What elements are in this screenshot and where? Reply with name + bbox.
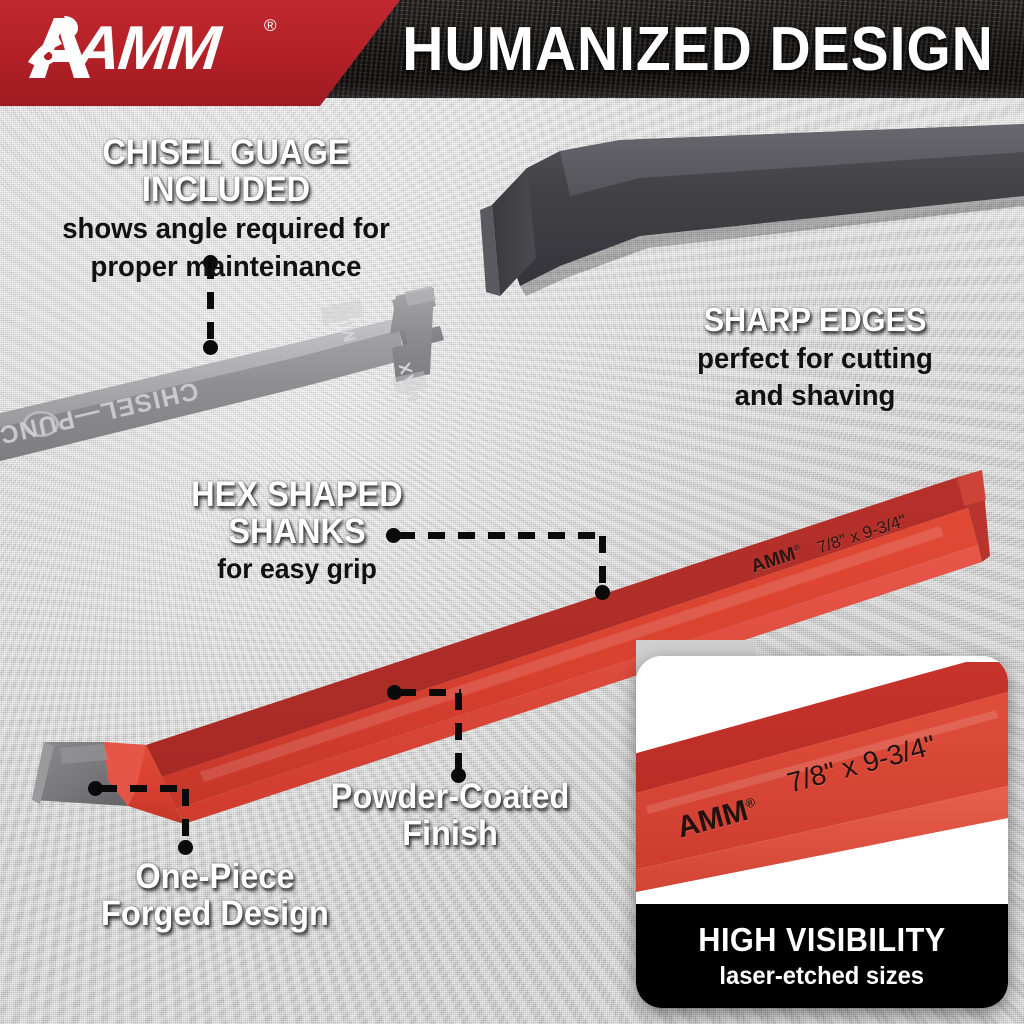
callout-sharp-edges-subtext-line-1: perfect for cutting [658, 344, 972, 375]
callout-one-piece-headline-line-1: One-Piece [80, 858, 350, 895]
callout-hex-shanks: HEX SHAPED SHANKS for easy grip [172, 476, 422, 584]
inset-caption-subtext: laser-etched sizes [720, 962, 925, 991]
callout-one-piece-headline-line-2: Forged Design [80, 895, 350, 932]
callout-powder-coated-headline-line-1: Powder-Coated [311, 778, 590, 815]
page-title: HUMANIZED DESIGN [422, 4, 974, 94]
callout-hex-shanks-headline-line-2: SHANKS [181, 513, 414, 550]
callout-chisel-gauge-subtext-line-1: shows angle required for [27, 214, 426, 245]
callout-powder-coated-headline-line-2: Finish [311, 815, 590, 852]
callout-sharp-edges-headline: SHARP EDGES [662, 303, 969, 338]
inset-panel-high-visibility[interactable]: AMM® 7/8" x 9-3/4" HIGH VISIBILITY laser… [636, 656, 1008, 1008]
callout-powder-coated: Powder-Coated Finish [300, 778, 600, 852]
callout-chisel-gauge-headline: CHISEL GUAGE INCLUDED [31, 134, 422, 208]
brand-name-text: AMM [73, 18, 222, 80]
inset-panel-caption: HIGH VISIBILITY laser-etched sizes [636, 904, 1008, 1008]
infographic-canvas: CHISEL—PUNCH GAUGE MIN MAX [0, 0, 1024, 1024]
callout-hex-shanks-headline-line-1: HEX SHAPED [181, 476, 414, 513]
callout-chisel-gauge-subtext-line-2: proper mainteinance [27, 252, 426, 283]
callout-hex-shanks-subtext: for easy grip [178, 554, 416, 584]
callout-one-piece: One-Piece Forged Design [70, 858, 360, 932]
callout-sharp-edges: SHARP EDGES perfect for cutting and shav… [650, 303, 980, 413]
inset-caption-headline: HIGH VISIBILITY [698, 921, 945, 959]
inset-panel-photo: AMM® 7/8" x 9-3/4" [636, 656, 1008, 904]
callout-chisel-gauge: CHISEL GUAGE INCLUDED shows angle requir… [16, 134, 436, 283]
brand-registered-mark: ® [264, 16, 277, 36]
brand-logo: AMM ® [24, 10, 314, 92]
callout-sharp-edges-subtext-line-2: and shaving [658, 381, 972, 412]
